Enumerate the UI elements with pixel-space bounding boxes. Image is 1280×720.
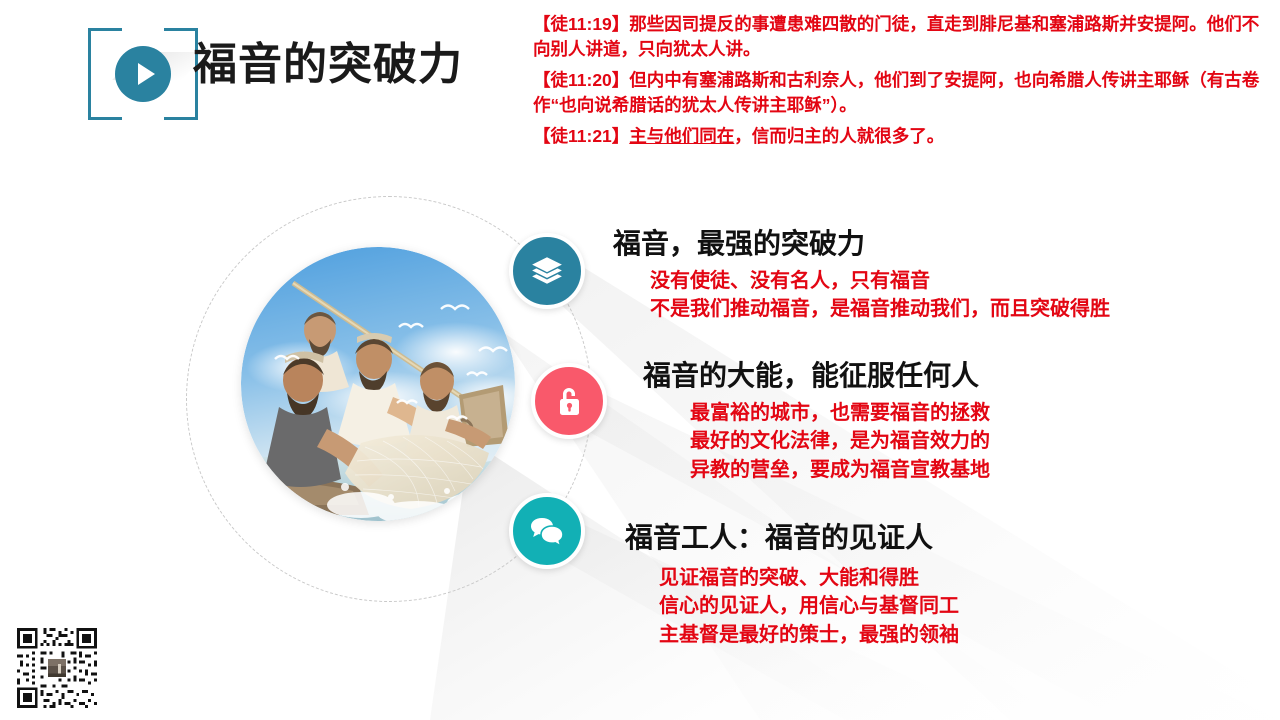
section-body: 见证福音的突破、大能和得胜 信心的见证人，用信心与基督同工 主基督是最好的策士，…: [659, 564, 959, 649]
section-line: 不是我们推动福音，是福音推动我们，而且突破得胜: [650, 295, 1110, 323]
section-line: 信心的见证人，用信心与基督同工: [659, 592, 959, 620]
slide-canvas: 福音的突破力 【徒11:19】那些因司提反的事遭患难四散的门徒，直走到腓尼基和塞…: [0, 0, 1280, 720]
verse-text: ，信而归主的人就很多了。: [734, 126, 944, 146]
content-section-3: 福音工人：福音的见证人 见证福音的突破、大能和得胜 信心的见证人，用信心与基督同…: [625, 520, 959, 649]
section-icon-chat[interactable]: [509, 493, 585, 569]
qr-code[interactable]: [14, 625, 100, 711]
section-body: 最富裕的城市，也需要福音的拯救 最好的文化法律，是为福音效力的 异教的营垒，要成…: [690, 399, 990, 484]
verse-item: 【徒11:21】主与他们同在，信而归主的人就很多了。: [533, 124, 1268, 149]
section-heading: 福音，最强的突破力: [613, 226, 1110, 261]
page-title: 福音的突破力: [193, 40, 463, 91]
verse-reference: 【徒11:20】: [533, 70, 629, 90]
play-button-icon[interactable]: [115, 46, 171, 102]
section-icon-unlock[interactable]: [531, 363, 607, 439]
section-body: 没有使徒、没有名人，只有福音 不是我们推动福音，是福音推动我们，而且突破得胜: [650, 267, 1110, 324]
verse-text: 那些因司提反的事遭患难四散的门徒，直走到腓尼基和塞浦路斯并安提阿。他们不向别人讲…: [533, 14, 1259, 59]
verse-reference: 【徒11:21】: [533, 126, 629, 146]
chat-bubbles-icon: [529, 514, 565, 548]
verse-reference: 【徒11:19】: [533, 14, 629, 34]
section-heading: 福音的大能，能征服任何人: [643, 358, 990, 393]
section-line: 最富裕的城市，也需要福音的拯救: [690, 399, 990, 427]
unlocked-padlock-icon: [553, 384, 585, 418]
logo-mark[interactable]: [88, 28, 198, 120]
section-line: 最好的文化法律，是为福音效力的: [690, 427, 990, 455]
fishermen-photo: [241, 247, 515, 521]
content-section-1: 福音，最强的突破力 没有使徒、没有名人，只有福音 不是我们推动福音，是福音推动我…: [613, 226, 1110, 324]
section-line: 没有使徒、没有名人，只有福音: [650, 267, 1110, 295]
verse-item: 【徒11:19】那些因司提反的事遭患难四散的门徒，直走到腓尼基和塞浦路斯并安提阿…: [533, 12, 1268, 63]
scripture-block: 【徒11:19】那些因司提反的事遭患难四散的门徒，直走到腓尼基和塞浦路斯并安提阿…: [533, 12, 1268, 154]
layers-icon: [530, 254, 564, 288]
verse-text-underlined: 主与他们同在: [629, 126, 734, 146]
content-section-2: 福音的大能，能征服任何人 最富裕的城市，也需要福音的拯救 最好的文化法律，是为福…: [643, 358, 990, 484]
verse-item: 【徒11:20】但内中有塞浦路斯和古利奈人，他们到了安提阿，也向希腊人传讲主耶稣…: [533, 68, 1268, 119]
section-line: 异教的营垒，要成为福音宣教基地: [690, 456, 990, 484]
verse-text: 但内中有塞浦路斯和古利奈人，他们到了安提阿，也向希腊人传讲主耶稣（有古卷作“也向…: [533, 70, 1259, 115]
section-heading: 福音工人：福音的见证人: [625, 520, 959, 555]
section-line: 主基督是最好的策士，最强的领袖: [659, 621, 959, 649]
section-line: 见证福音的突破、大能和得胜: [659, 564, 959, 592]
section-icon-layers[interactable]: [509, 233, 585, 309]
